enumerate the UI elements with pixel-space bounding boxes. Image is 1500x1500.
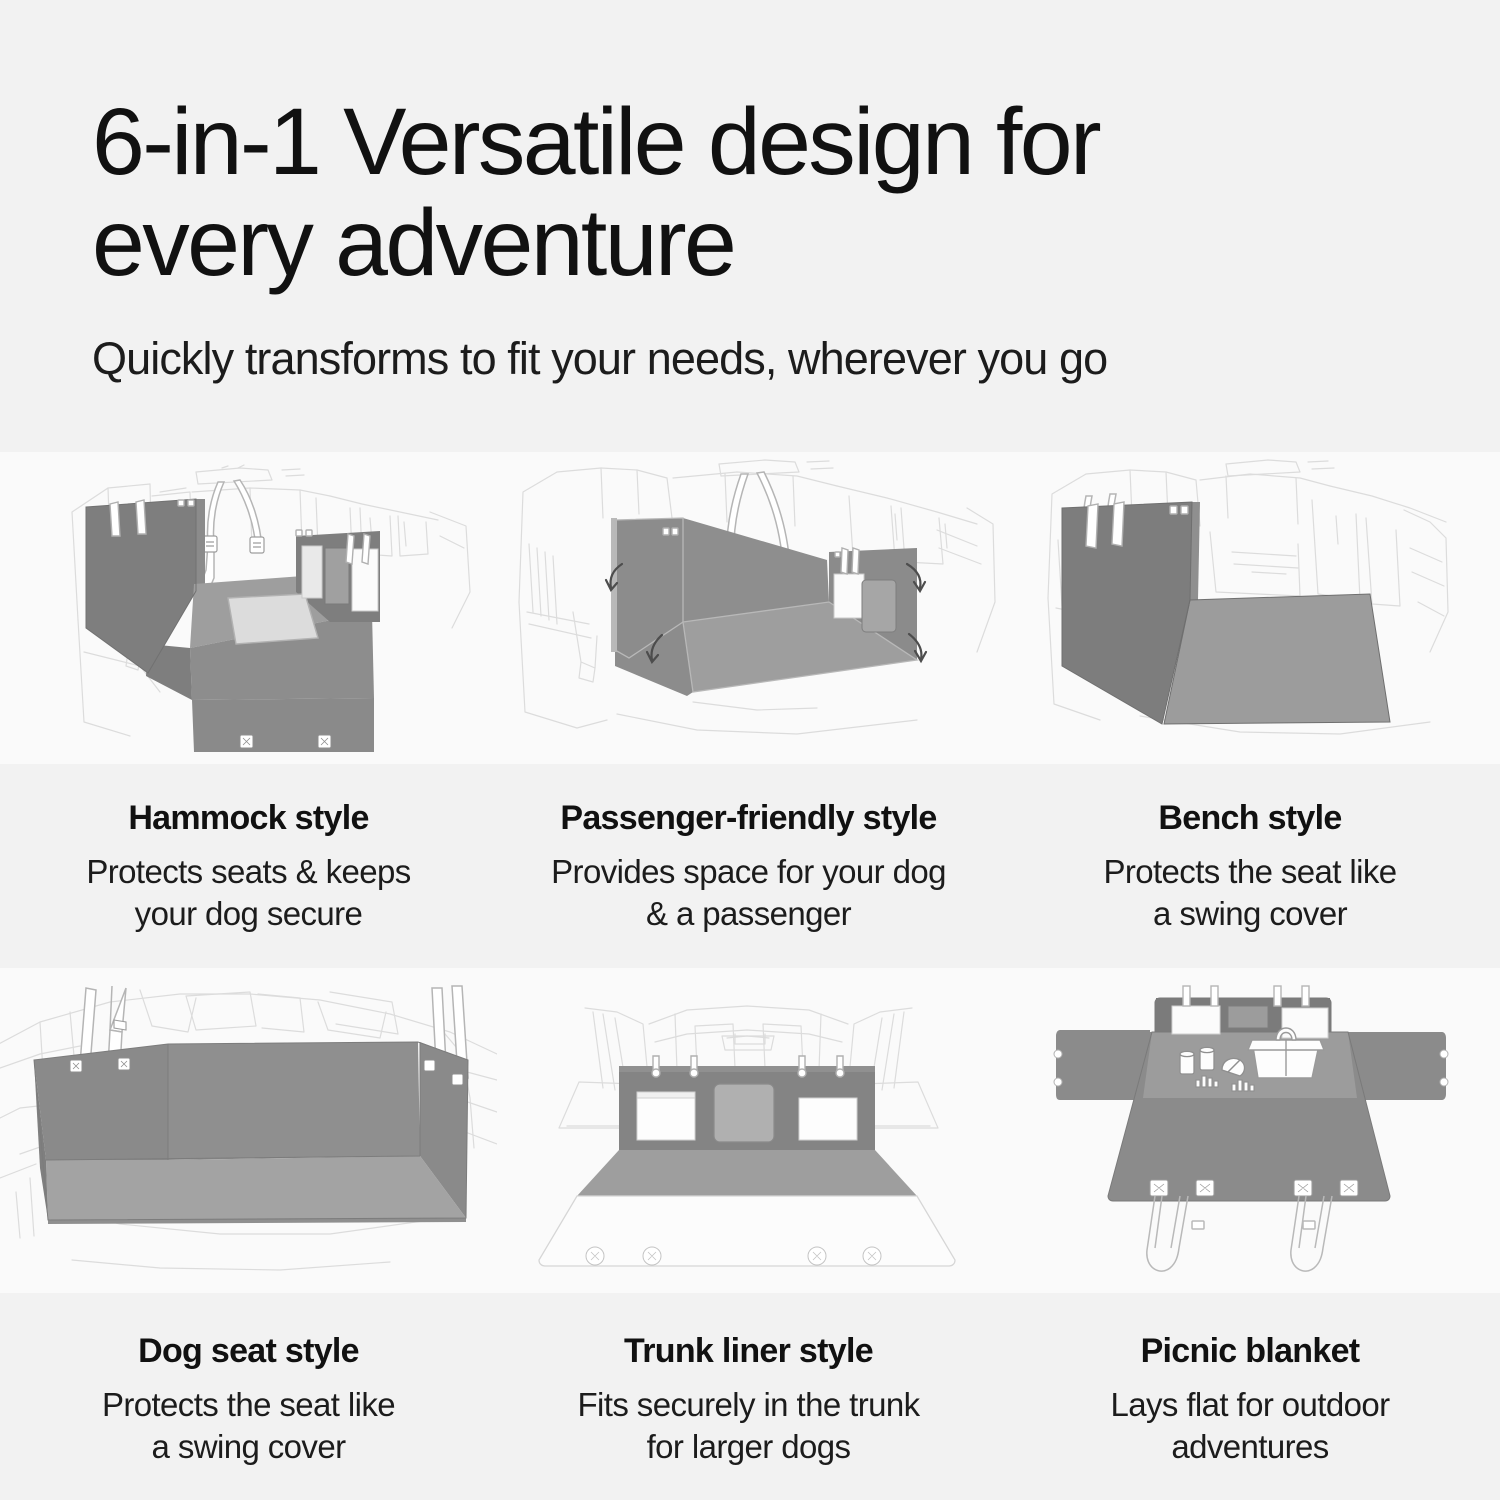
illustration-panel	[497, 968, 1000, 1293]
caption: Hammock style Protects seats & keeps you…	[72, 764, 424, 934]
style-grid: Hammock style Protects seats & keeps you…	[0, 452, 1500, 1467]
style-card-hammock: Hammock style Protects seats & keeps you…	[0, 452, 497, 934]
dog-seat-style-illustration	[0, 968, 497, 1293]
style-title: Passenger-friendly style	[551, 800, 946, 837]
style-description: Protects the seat like a swing cover	[1103, 851, 1396, 934]
style-description: Fits securely in the trunk for larger do…	[577, 1384, 919, 1467]
style-card-bench: Bench style Protects the seat like a swi…	[1000, 452, 1500, 934]
style-description: Protects seats & keeps your dog secure	[86, 851, 410, 934]
bench-style-illustration	[1000, 452, 1500, 764]
page-subtitle: Quickly transforms to fit your needs, wh…	[92, 333, 1408, 385]
hammock-style-illustration	[0, 452, 497, 764]
picnic-blanket-illustration	[1000, 968, 1500, 1293]
illustration-panel	[1000, 968, 1500, 1293]
caption: Bench style Protects the seat like a swi…	[1089, 764, 1410, 934]
style-title: Trunk liner style	[577, 1333, 919, 1370]
illustration-panel	[0, 452, 497, 764]
style-title: Bench style	[1103, 800, 1396, 837]
passenger-friendly-style-illustration	[497, 452, 1000, 764]
style-card-dog-seat: Dog seat style Protects the seat like a …	[0, 968, 497, 1467]
page-title: 6-in-1 Versatile design for every advent…	[92, 92, 1332, 293]
style-card-picnic-blanket: Picnic blanket Lays flat for outdoor adv…	[1000, 968, 1500, 1467]
infographic-page: 6-in-1 Versatile design for every advent…	[0, 0, 1500, 1500]
trunk-liner-style-illustration	[497, 968, 1000, 1293]
style-title: Picnic blanket	[1110, 1333, 1389, 1370]
caption: Picnic blanket Lays flat for outdoor adv…	[1096, 1293, 1403, 1467]
caption: Trunk liner style Fits securely in the t…	[563, 1293, 933, 1467]
style-card-passenger-friendly: Passenger-friendly style Provides space …	[497, 452, 1000, 934]
caption: Dog seat style Protects the seat like a …	[88, 1293, 409, 1467]
style-card-trunk-liner: Trunk liner style Fits securely in the t…	[497, 968, 1000, 1467]
caption: Passenger-friendly style Provides space …	[537, 764, 960, 934]
header: 6-in-1 Versatile design for every advent…	[0, 0, 1500, 385]
style-title: Dog seat style	[102, 1333, 395, 1370]
illustration-panel	[1000, 452, 1500, 764]
style-description: Provides space for your dog & a passenge…	[551, 851, 946, 934]
style-title: Hammock style	[86, 800, 410, 837]
style-description: Lays flat for outdoor adventures	[1110, 1384, 1389, 1467]
illustration-panel	[497, 452, 1000, 764]
style-description: Protects the seat like a swing cover	[102, 1384, 395, 1467]
illustration-panel	[0, 968, 497, 1293]
